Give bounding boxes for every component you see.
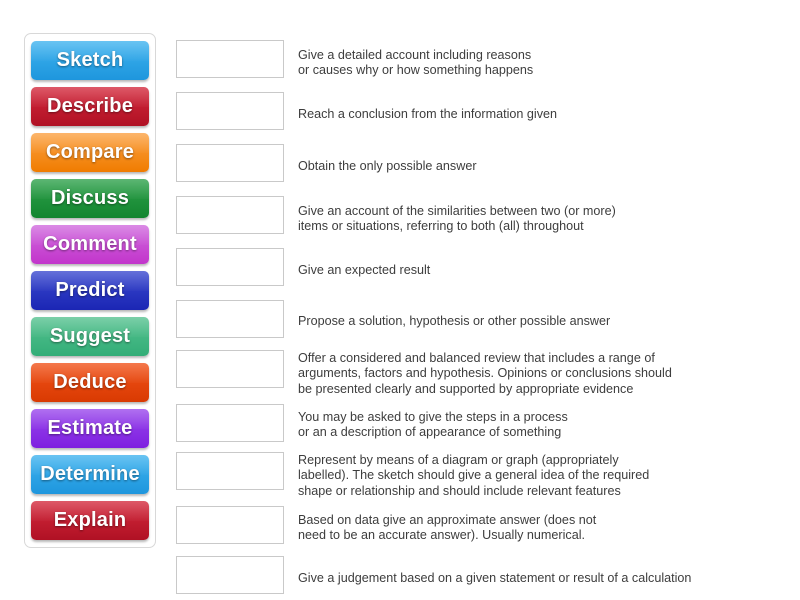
- match-up-activity: SketchDescribeCompareDiscussCommentPredi…: [0, 0, 800, 600]
- word-tile-predict[interactable]: Predict: [31, 271, 149, 310]
- definition-text: Represent by means of a diagram or graph…: [284, 453, 776, 499]
- definition-text: Give a judgement based on a given statem…: [284, 571, 776, 586]
- definition-text: Reach a conclusion from the information …: [284, 107, 776, 122]
- answer-dropzone[interactable]: [176, 300, 284, 338]
- word-tile-deduce[interactable]: Deduce: [31, 363, 149, 402]
- definition-rows: Give a detailed account including reason…: [176, 40, 776, 600]
- word-tile-label: Comment: [43, 233, 137, 256]
- answer-dropzone[interactable]: [176, 248, 284, 286]
- word-tile-suggest[interactable]: Suggest: [31, 317, 149, 356]
- definition-text: Give an expected result: [284, 263, 776, 278]
- definition-text: Give an account of the similarities betw…: [284, 204, 776, 235]
- match-row: Give an expected result: [176, 248, 776, 294]
- match-row: Reach a conclusion from the information …: [176, 92, 776, 138]
- definition-text: Propose a solution, hypothesis or other …: [284, 314, 776, 329]
- word-tile-discuss[interactable]: Discuss: [31, 179, 149, 218]
- word-tile-explain[interactable]: Explain: [31, 501, 149, 540]
- word-tile-comment[interactable]: Comment: [31, 225, 149, 264]
- word-tile-label: Sketch: [57, 49, 124, 72]
- match-row: Represent by means of a diagram or graph…: [176, 452, 776, 500]
- definition-text: You may be asked to give the steps in a …: [284, 410, 776, 441]
- answer-dropzone[interactable]: [176, 144, 284, 182]
- word-tile-compare[interactable]: Compare: [31, 133, 149, 172]
- answer-dropzone[interactable]: [176, 506, 284, 544]
- word-tile-label: Compare: [46, 141, 134, 164]
- definition-text: Based on data give an approximate answer…: [284, 513, 776, 544]
- word-tile-label: Determine: [40, 463, 140, 486]
- match-row: Give a judgement based on a given statem…: [176, 556, 776, 600]
- definition-text: Give a detailed account including reason…: [284, 48, 776, 79]
- answer-dropzone[interactable]: [176, 350, 284, 388]
- word-tile-label: Discuss: [51, 187, 129, 210]
- match-row: Give an account of the similarities betw…: [176, 196, 776, 242]
- word-tile-determine[interactable]: Determine: [31, 455, 149, 494]
- word-tile-describe[interactable]: Describe: [31, 87, 149, 126]
- word-tile-label: Describe: [47, 95, 133, 118]
- answer-dropzone[interactable]: [176, 556, 284, 594]
- word-tile-label: Explain: [54, 509, 127, 532]
- definition-text: Obtain the only possible answer: [284, 159, 776, 174]
- word-tile-label: Suggest: [50, 325, 130, 348]
- match-row: Propose a solution, hypothesis or other …: [176, 300, 776, 344]
- match-row: Obtain the only possible answer: [176, 144, 776, 190]
- answer-dropzone[interactable]: [176, 40, 284, 78]
- word-tile-label: Deduce: [53, 371, 126, 394]
- match-row: Offer a considered and balanced review t…: [176, 350, 776, 398]
- word-tile-sketch[interactable]: Sketch: [31, 41, 149, 80]
- word-tile-label: Estimate: [48, 417, 133, 440]
- match-row: You may be asked to give the steps in a …: [176, 404, 776, 446]
- word-tile-estimate[interactable]: Estimate: [31, 409, 149, 448]
- match-row: Based on data give an approximate answer…: [176, 506, 776, 550]
- answer-dropzone[interactable]: [176, 92, 284, 130]
- answer-dropzone[interactable]: [176, 404, 284, 442]
- tile-tray: SketchDescribeCompareDiscussCommentPredi…: [24, 33, 156, 548]
- definition-text: Offer a considered and balanced review t…: [284, 351, 776, 397]
- word-tile-label: Predict: [55, 279, 124, 302]
- answer-dropzone[interactable]: [176, 452, 284, 490]
- match-row: Give a detailed account including reason…: [176, 40, 776, 86]
- answer-dropzone[interactable]: [176, 196, 284, 234]
